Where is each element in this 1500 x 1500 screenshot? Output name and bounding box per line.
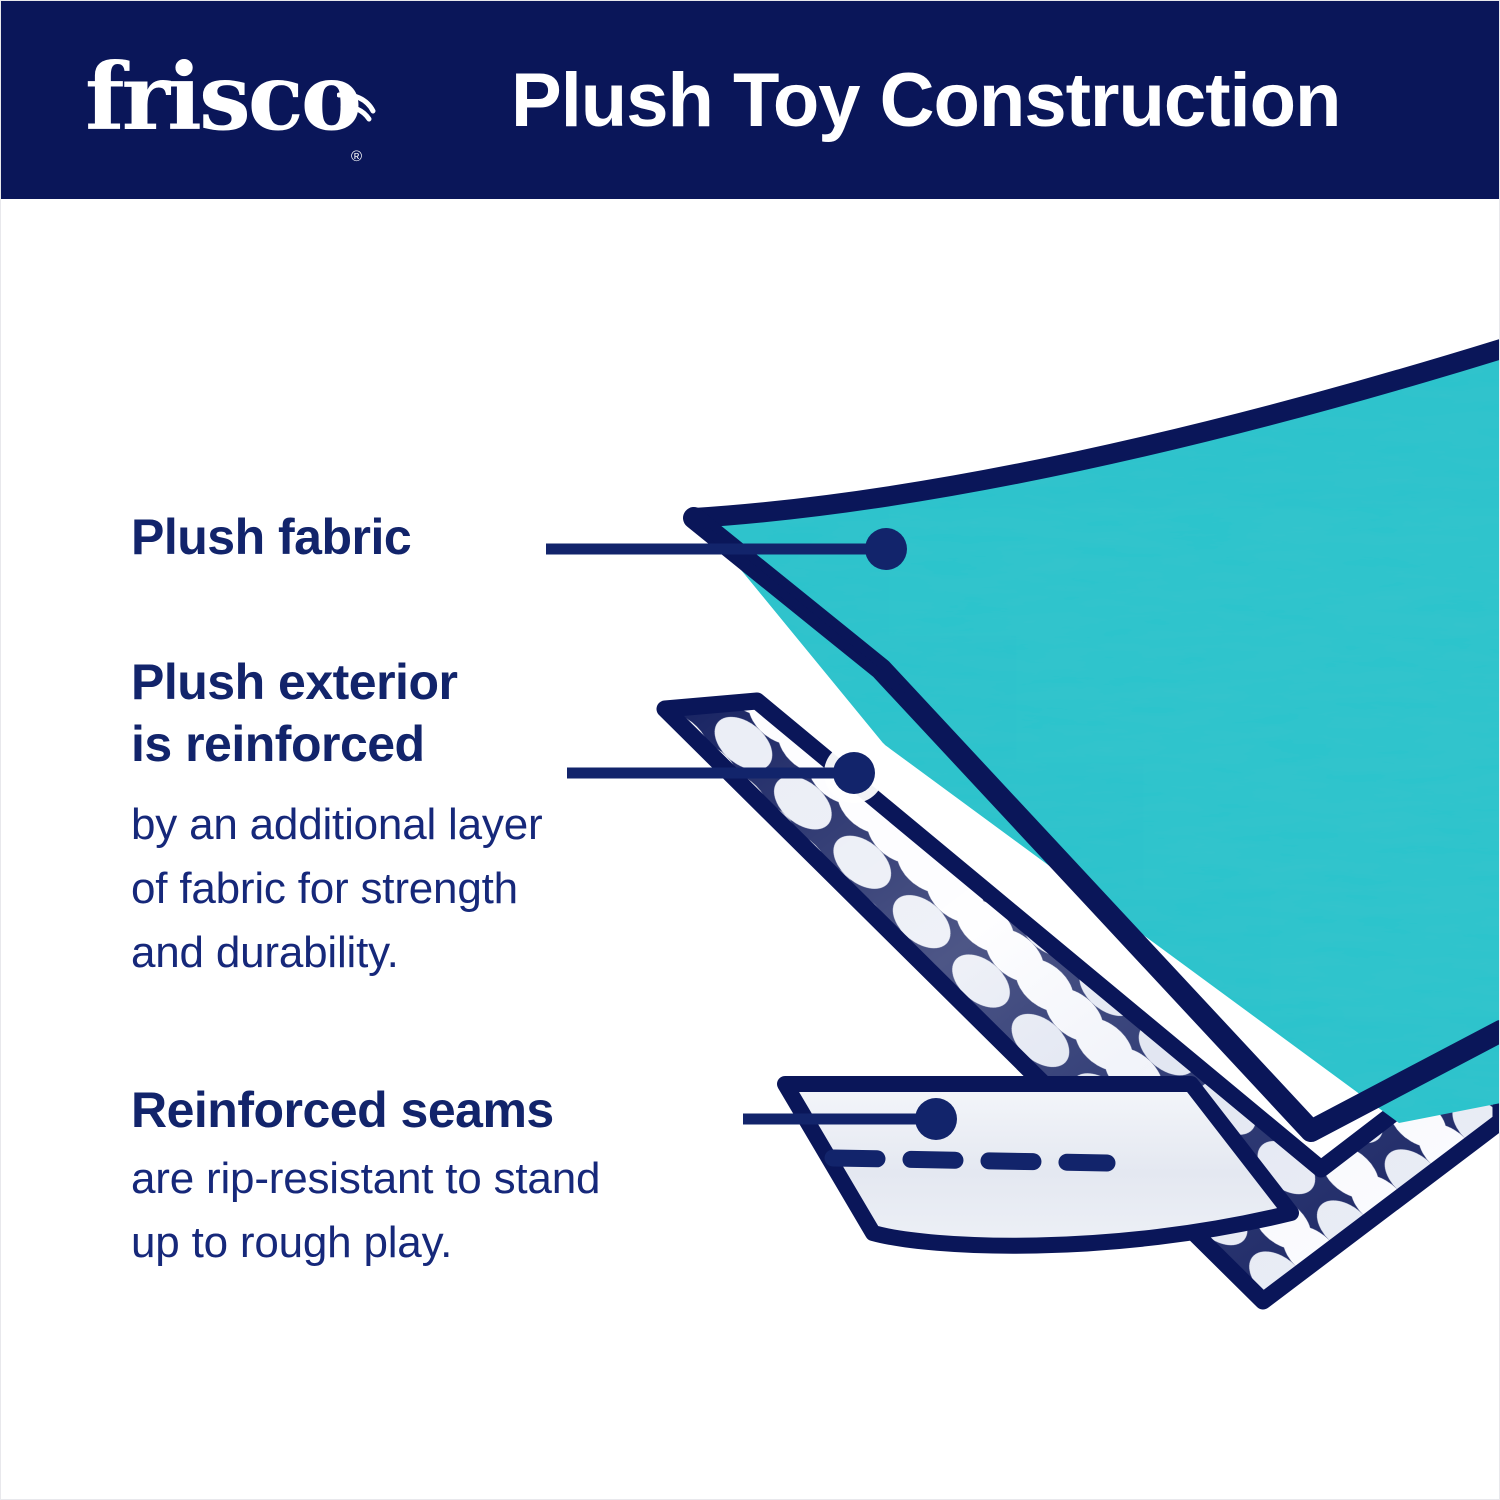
- frisco-logo: frisco ®: [85, 45, 385, 155]
- infographic-page: frisco ® Plush Toy Construction: [0, 0, 1500, 1500]
- logo-swoosh-icon: [337, 91, 377, 125]
- callout-plush-fabric: Plush fabric: [131, 506, 561, 568]
- callout-plush-exterior-body: by an additional layer of fabric for str…: [131, 775, 731, 985]
- registered-trademark-mark: ®: [351, 149, 362, 164]
- callout-reinforced-seams-body: are rip-resistant to stand up to rough p…: [131, 1141, 811, 1275]
- reinforced-seam-flap: [785, 1084, 1291, 1246]
- header-bar: frisco ® Plush Toy Construction: [1, 1, 1500, 199]
- callout-plush-exterior-heading: Plush exterior is reinforced: [131, 651, 731, 775]
- page-title: Plush Toy Construction: [511, 47, 1340, 155]
- callout-reinforced-seams: Reinforced seams are rip-resistant to st…: [131, 1079, 811, 1275]
- callout-reinforced-seams-heading: Reinforced seams: [131, 1079, 811, 1141]
- brand-wordmark: frisco: [85, 45, 359, 149]
- callout-plush-exterior-reinforced: Plush exterior is reinforced by an addit…: [131, 651, 731, 985]
- callout-plush-fabric-heading: Plush fabric: [131, 506, 561, 568]
